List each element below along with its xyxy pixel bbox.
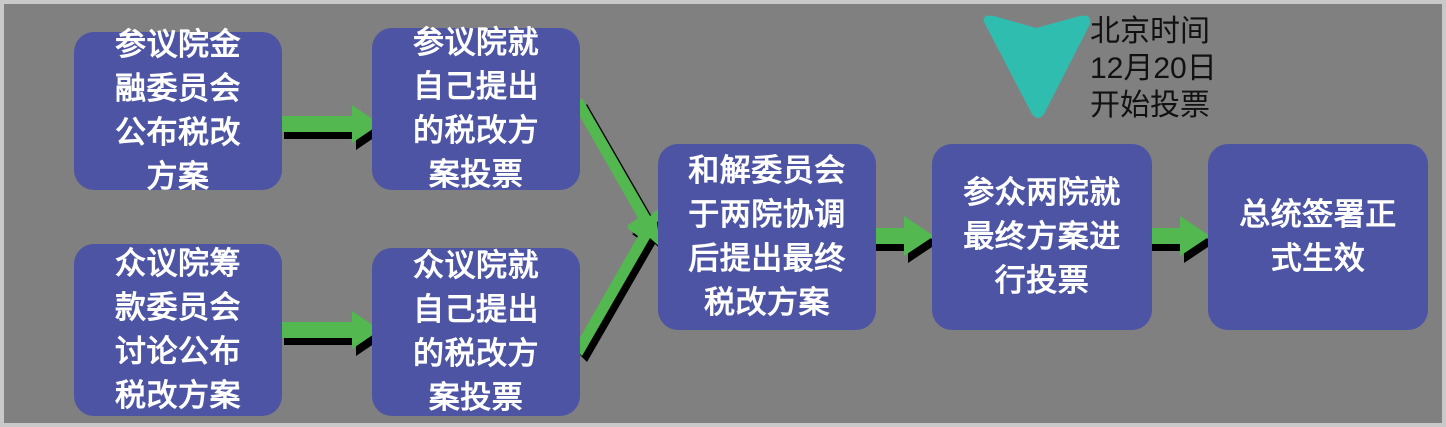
node-conference-committee[interactable]: 和解委员会 于两院协调 后提出最终 税改方案 [658, 144, 876, 330]
edge-conference-to-final-vote [870, 216, 938, 263]
node-both-chambers-final-vote[interactable]: 参众两院就 最终方案进 行投票 [932, 144, 1152, 330]
node-senate-finance-committee[interactable]: 参议院金 融委员会 公布税改 方案 [74, 32, 282, 190]
node-house-ways-means[interactable]: 众议院筹 款委员会 讨论公布 税改方案 [74, 244, 282, 416]
edge-house-committee-to-house-vote [280, 311, 384, 356]
edge-final-vote-to-president [1146, 216, 1214, 263]
diagram-canvas: 参议院金 融委员会 公布税改 方案 参议院就 自己提出 的税改方 案投票 众议院… [4, 4, 1442, 423]
node-senate-vote-own-plan[interactable]: 参议院就 自己提出 的税改方 案投票 [372, 28, 580, 190]
edge-senate-vote-to-conference [574, 98, 665, 246]
node-president-signs[interactable]: 总统签署正 式生效 [1208, 144, 1428, 330]
node-house-vote-own-plan[interactable]: 众议院就 自己提出 的税改方 案投票 [372, 248, 580, 416]
edge-house-vote-to-conference [574, 214, 665, 362]
beijing-time-note: 北京时间 12月20日 开始投票 [1090, 13, 1217, 124]
chevron-down-icon [984, 16, 1091, 118]
edge-senate-committee-to-senate-vote [280, 105, 384, 150]
